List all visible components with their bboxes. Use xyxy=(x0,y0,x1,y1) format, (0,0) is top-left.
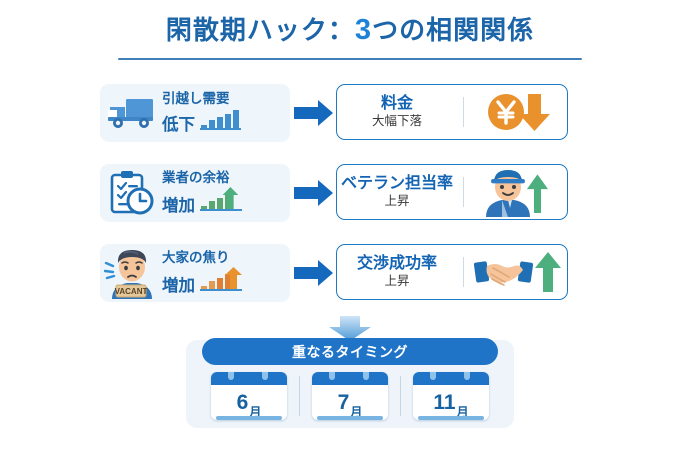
calendar-icon: 7 月 xyxy=(312,372,388,420)
effect-subtitle: 上昇 xyxy=(384,274,409,290)
title-tail: つの相関関係 xyxy=(372,15,534,45)
calendar-header xyxy=(211,372,287,385)
moving-truck-icon xyxy=(104,87,160,139)
cause-card-demand: 引越し需要 低下 xyxy=(100,84,290,142)
cause-bottom-label: 増加 xyxy=(162,197,195,216)
calendar-ring-left-icon xyxy=(329,372,335,380)
worried-landlord-vacant-icon: VACANT xyxy=(104,247,160,299)
calendar-ring-left-icon xyxy=(430,372,436,380)
effect-subtitle: 上昇 xyxy=(384,194,409,210)
cause-bottom-label: 低下 xyxy=(162,116,195,135)
effect-text-negotiation-success: 交渉成功率 上昇 xyxy=(337,254,457,290)
cause-text-demand: 引越し需要 低下 xyxy=(160,91,290,134)
effect-divider xyxy=(463,97,464,127)
effect-title: ベテラン担当率 xyxy=(341,174,453,194)
cause-text-landlord-anxiety: 大家の焦り 増加 xyxy=(160,250,290,295)
page-title: 閑散期ハック：3つの相関関係 xyxy=(0,14,700,47)
calendar-month-number: 6 xyxy=(237,392,249,413)
calendar-month-number: 11 xyxy=(433,392,455,413)
calendar-separator xyxy=(299,376,300,416)
relation-row-3: VACANT 大家の焦り 増加 xyxy=(0,244,700,306)
effect-subtitle: 大幅下落 xyxy=(372,114,422,130)
relation-row-2: 業者の余裕 増加 ベテラン xyxy=(0,164,700,226)
page-title-text: 閑散期ハック：3つの相関関係 xyxy=(166,14,534,47)
calendar-footer xyxy=(418,416,484,420)
calendar-separator xyxy=(400,376,401,416)
cause-card-capacity: 業者の余裕 増加 xyxy=(100,164,290,222)
effect-title: 料金 xyxy=(381,94,413,114)
calendar-ring-left-icon xyxy=(228,372,234,380)
right-arrow-icon xyxy=(294,178,334,213)
calendar-icon: 6 月 xyxy=(211,372,287,420)
cause-text-capacity: 業者の余裕 増加 xyxy=(160,170,290,215)
effect-text-veteran-rate: ベテラン担当率 上昇 xyxy=(337,174,457,210)
calendar-icon: 11 月 xyxy=(413,372,489,420)
bar-chart-orange-up-icon xyxy=(199,267,245,296)
calendar-row: 6 月 7 月 11 月 xyxy=(186,370,514,422)
calendar-item-1: 6 月 xyxy=(211,372,287,420)
calendar-body: 7 月 xyxy=(312,385,388,420)
yen-down-icon xyxy=(470,86,567,138)
cause-top-label: 業者の余裕 xyxy=(162,170,290,186)
handshake-up-icon xyxy=(470,246,567,298)
cause-top-label: 引越し需要 xyxy=(162,91,290,107)
cause-bottom-label: 増加 xyxy=(162,277,195,296)
calendar-header xyxy=(413,372,489,385)
calendar-item-2: 7 月 xyxy=(312,372,388,420)
bar-chart-green-up-icon xyxy=(199,187,245,216)
right-arrow-icon xyxy=(294,258,334,293)
calendar-footer xyxy=(216,416,282,420)
relation-row-1: 引越し需要 低下 料金 xyxy=(0,84,700,146)
calendar-header xyxy=(312,372,388,385)
title-lead: 閑散期ハック： xyxy=(166,15,355,45)
svg-text:VACANT: VACANT xyxy=(115,287,148,296)
calendar-ring-right-icon xyxy=(464,372,470,380)
clipboard-clock-icon xyxy=(104,167,160,219)
calendar-ring-right-icon xyxy=(363,372,369,380)
timing-banner-label: 重なるタイミング xyxy=(292,342,408,362)
worker-avatar-icon xyxy=(470,166,567,218)
title-accent-number: 3 xyxy=(355,14,372,46)
right-arrow-icon xyxy=(294,98,334,133)
effect-divider xyxy=(463,177,464,207)
effect-card-price: 料金 大幅下落 xyxy=(336,84,568,140)
calendar-item-3: 11 月 xyxy=(413,372,489,420)
effect-divider xyxy=(463,257,464,287)
calendar-ring-right-icon xyxy=(262,372,268,380)
effect-card-veteran-rate: ベテラン担当率 上昇 xyxy=(336,164,568,220)
calendar-month-number: 7 xyxy=(338,392,350,413)
timing-banner: 重なるタイミング xyxy=(202,338,498,365)
calendar-body: 11 月 xyxy=(413,385,489,420)
cause-top-label: 大家の焦り xyxy=(162,250,290,266)
calendar-footer xyxy=(317,416,383,420)
bar-chart-blue-icon xyxy=(199,108,243,135)
cause-card-landlord-anxiety: VACANT 大家の焦り 増加 xyxy=(100,244,290,302)
title-underline-rule xyxy=(118,58,582,60)
effect-text-price: 料金 大幅下落 xyxy=(337,94,457,130)
calendar-body: 6 月 xyxy=(211,385,287,420)
effect-title: 交渉成功率 xyxy=(357,254,437,274)
effect-card-negotiation-success: 交渉成功率 上昇 xyxy=(336,244,568,300)
